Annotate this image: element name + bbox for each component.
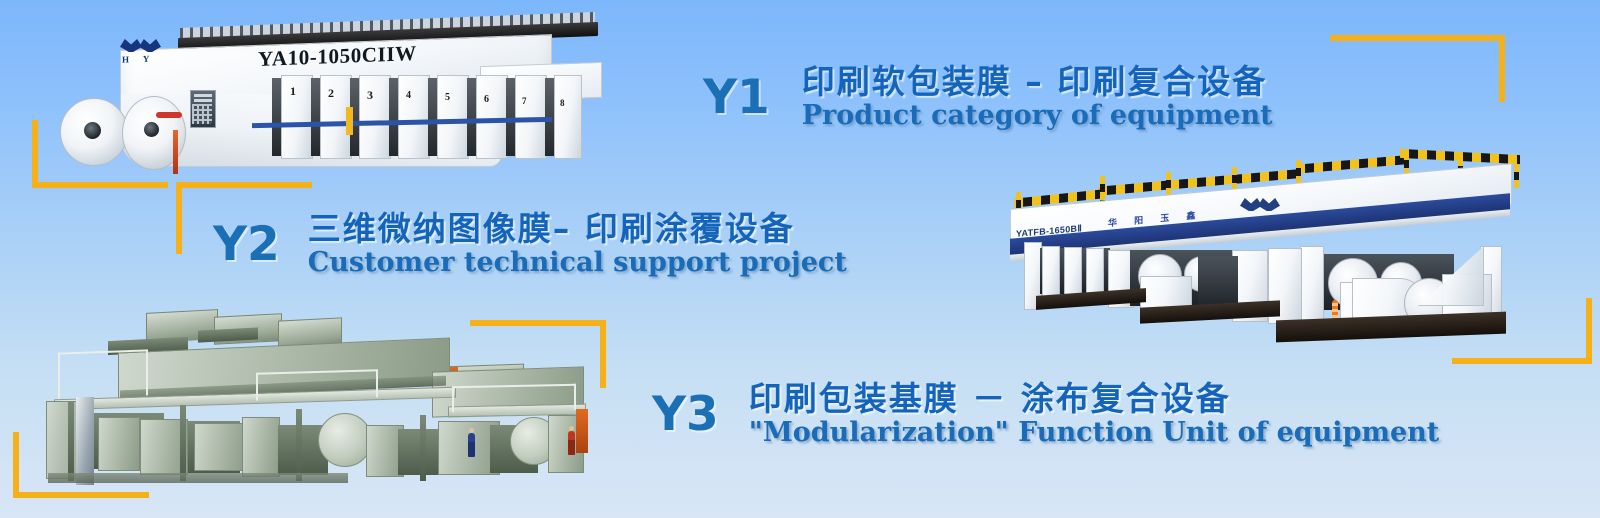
press-unit-number: 6	[484, 94, 489, 105]
coating-web-guide	[76, 397, 94, 485]
coating-catwalk-railing	[452, 384, 576, 413]
coating-post	[68, 401, 74, 481]
bracket-f-horizontal	[13, 492, 149, 498]
bracket-b-horizontal	[176, 182, 312, 188]
entry-y2-code: Y2	[213, 221, 280, 268]
coating-catwalk-railing	[256, 369, 378, 400]
press-unit-number: 3	[367, 88, 373, 103]
press-brand-initials: H Y	[122, 53, 155, 64]
press-unit	[281, 75, 313, 159]
coating-post	[296, 409, 302, 481]
press-roll-arm	[156, 112, 182, 118]
coating-section	[98, 417, 140, 471]
coating-end-block	[576, 409, 588, 453]
entry-y3-title-cn: 印刷包装基膜 － 涂布复合设备	[749, 381, 1440, 418]
coating-operator	[468, 433, 475, 457]
entry-y2-text: 三维微纳图像膜– 印刷涂覆设备 Customer technical suppo…	[308, 211, 847, 278]
laminator-section	[1064, 247, 1082, 299]
press-unit-gap	[428, 78, 437, 156]
laminator-section	[1042, 246, 1060, 298]
press-unit-gap	[467, 78, 476, 156]
press-brand-logo	[120, 39, 166, 55]
press-unit	[554, 75, 582, 159]
coating-catwalk-railing	[58, 349, 148, 398]
press-yellow-marker	[346, 107, 353, 135]
press-unit-gap	[311, 78, 320, 156]
press-unit-gap	[389, 78, 398, 156]
coating-floor-shadow	[48, 473, 348, 483]
entry-y2-title-cn: 三维微纳图像膜– 印刷涂覆设备	[308, 211, 847, 248]
equipment-banner: H Y YA10-1050CIIW 1 2 3 4 5 6 7 8	[0, 0, 1600, 518]
laminator-brand-logo	[1240, 198, 1284, 213]
press-rewind-hub	[144, 122, 159, 137]
press-unit	[359, 75, 391, 159]
entry-y3-text: 印刷包装基膜 － 涂布复合设备 "Modularization" Functio…	[749, 381, 1440, 448]
safety-rail-top	[1296, 155, 1406, 174]
press-unit-number: 1	[290, 84, 296, 99]
bracket-c-horizontal	[1330, 35, 1505, 41]
entry-y2-subtitle-en: Customer technical support project	[308, 248, 847, 278]
bracket-e-horizontal	[1452, 358, 1592, 364]
safety-rail-post	[1514, 164, 1519, 188]
press-unit-gap	[272, 78, 281, 156]
entry-y1: Y1 印刷软包装膜 – 印刷复合设备 Product category of e…	[703, 64, 1273, 131]
press-web-guide	[173, 130, 178, 174]
press-unit	[398, 75, 430, 159]
coating-roll	[318, 413, 372, 467]
entry-y3-subtitle-en: "Modularization" Function Unit of equipm…	[749, 418, 1440, 448]
bracket-f-vertical	[13, 432, 19, 498]
press-unit-number: 7	[522, 96, 527, 106]
entry-y3-code: Y3	[652, 391, 719, 438]
entry-y1-text: 印刷软包装膜 – 印刷复合设备 Product category of equi…	[802, 64, 1273, 131]
coating-post	[420, 415, 426, 481]
bracket-d-vertical	[600, 320, 606, 388]
entry-y3: Y3 印刷包装基膜 － 涂布复合设备 "Modularization" Func…	[652, 381, 1439, 448]
press-unit-number: 2	[328, 86, 334, 101]
coating-coater-head	[194, 423, 246, 471]
bracket-c-vertical	[1499, 35, 1505, 102]
bracket-a-vertical	[32, 120, 38, 188]
coating-section	[242, 417, 280, 477]
machine-laminator: YATFB-1650BⅡ 华 阳 玉 鑫	[980, 150, 1540, 350]
machine-rotogravure-press: H Y YA10-1050CIIW 1 2 3 4 5 6 7 8	[60, 12, 605, 177]
machine-coating-line	[28, 305, 588, 485]
coating-post	[180, 405, 186, 481]
bracket-e-vertical	[1586, 298, 1592, 364]
entry-y1-code: Y1	[703, 74, 770, 121]
entry-y2: Y2 三维微纳图像膜– 印刷涂覆设备 Customer technical su…	[213, 211, 847, 278]
entry-y1-subtitle-en: Product category of equipment	[802, 101, 1273, 131]
press-unit-number: 4	[406, 90, 411, 101]
press-keypad	[192, 104, 212, 124]
press-unit-number: 8	[560, 98, 565, 108]
press-unwind-hub	[84, 122, 101, 139]
press-unit-number: 5	[445, 92, 450, 103]
press-unit	[437, 75, 469, 159]
coating-operator	[568, 431, 575, 455]
bracket-a-horizontal	[32, 182, 168, 188]
entry-y1-title-cn: 印刷软包装膜 – 印刷复合设备	[802, 64, 1273, 101]
bracket-b-vertical	[176, 182, 182, 254]
safety-rail-post	[1100, 176, 1105, 202]
